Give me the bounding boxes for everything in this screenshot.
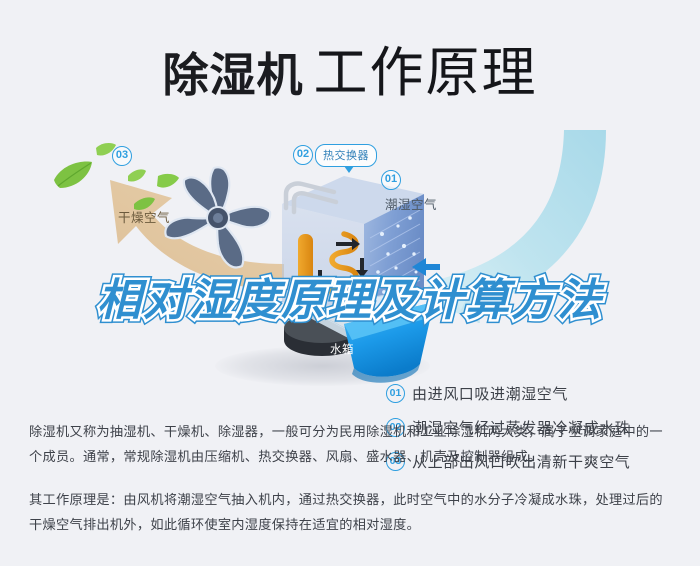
badge-01-humid-air: 01 <box>381 170 401 190</box>
overlay-watermark-text: 相对湿度原理及计算方法 <box>97 276 603 325</box>
badge-02-heat-exchanger: 02 <box>293 145 313 165</box>
page-root: 除湿机工作原理 <box>0 0 700 566</box>
legend-item: 01 由进风口吸进潮湿空气 <box>386 378 686 408</box>
label-dry-air: 干燥空气 <box>118 207 170 226</box>
page-title-secondary: 工作原理 <box>314 43 538 103</box>
legend-label: 由进风口吸进潮湿空气 <box>412 383 568 404</box>
dehumidifier-diagram: 03 干燥空气 01 潮湿空气 02 热交换器 水箱 01 由进风口吸进潮湿空气… <box>0 128 700 396</box>
body-paragraph-1: 除湿机又称为抽湿机、干燥机、除湿器，一般可分为民用除湿机和工业除湿机两大类，属于… <box>29 419 673 469</box>
label-water-tank: 水箱 <box>330 341 354 357</box>
label-humid-air: 潮湿空气 <box>385 194 437 213</box>
page-title: 除湿机工作原理 <box>0 28 700 107</box>
legend-badge: 01 <box>386 384 405 403</box>
body-paragraph-2: 其工作原理是：由风机将潮湿空气抽入机内，通过热交换器，此时空气中的水分子冷凝成水… <box>29 487 673 537</box>
page-title-primary: 除湿机 <box>163 49 304 101</box>
badge-03-dry-air: 03 <box>112 146 132 166</box>
overlay-watermark-title: 相对湿度原理及计算方法 相对湿度原理及计算方法 <box>0 264 700 328</box>
callout-heat-exchanger: 热交换器 <box>315 144 377 167</box>
